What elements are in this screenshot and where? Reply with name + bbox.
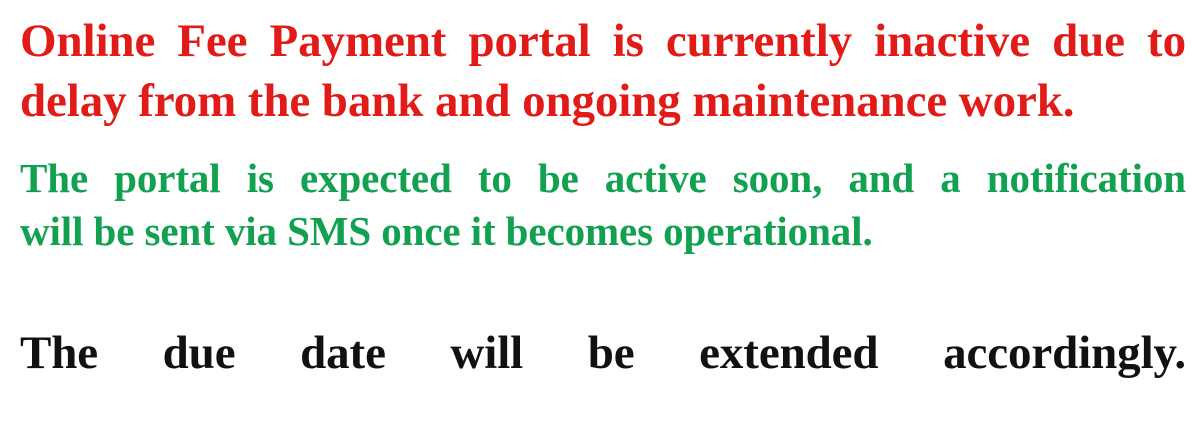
info-line-1: The portal is expected to be active soon… (20, 152, 1186, 205)
notice-page: Online Fee Payment portal is currently i… (0, 0, 1200, 421)
info-line-2: will be sent via SMS once it becomes ope… (20, 205, 1186, 258)
conclusion-message-block: The due date will be extended accordingl… (20, 322, 1186, 384)
alert-message-text: Online Fee Payment portal is currently i… (20, 11, 1186, 131)
info-message-text: The portal is expected to be active soon… (20, 152, 1186, 258)
info-message-block: The portal is expected to be active soon… (20, 152, 1186, 258)
conclusion-line-1: The due date will be extended accordingl… (20, 322, 1186, 384)
alert-line-1: Online Fee Payment portal is currently i… (20, 11, 1186, 71)
alert-message-block: Online Fee Payment portal is currently i… (20, 11, 1186, 131)
alert-line-2: delay from the bank and ongoing maintena… (20, 71, 1186, 131)
conclusion-message-text: The due date will be extended accordingl… (20, 322, 1186, 384)
